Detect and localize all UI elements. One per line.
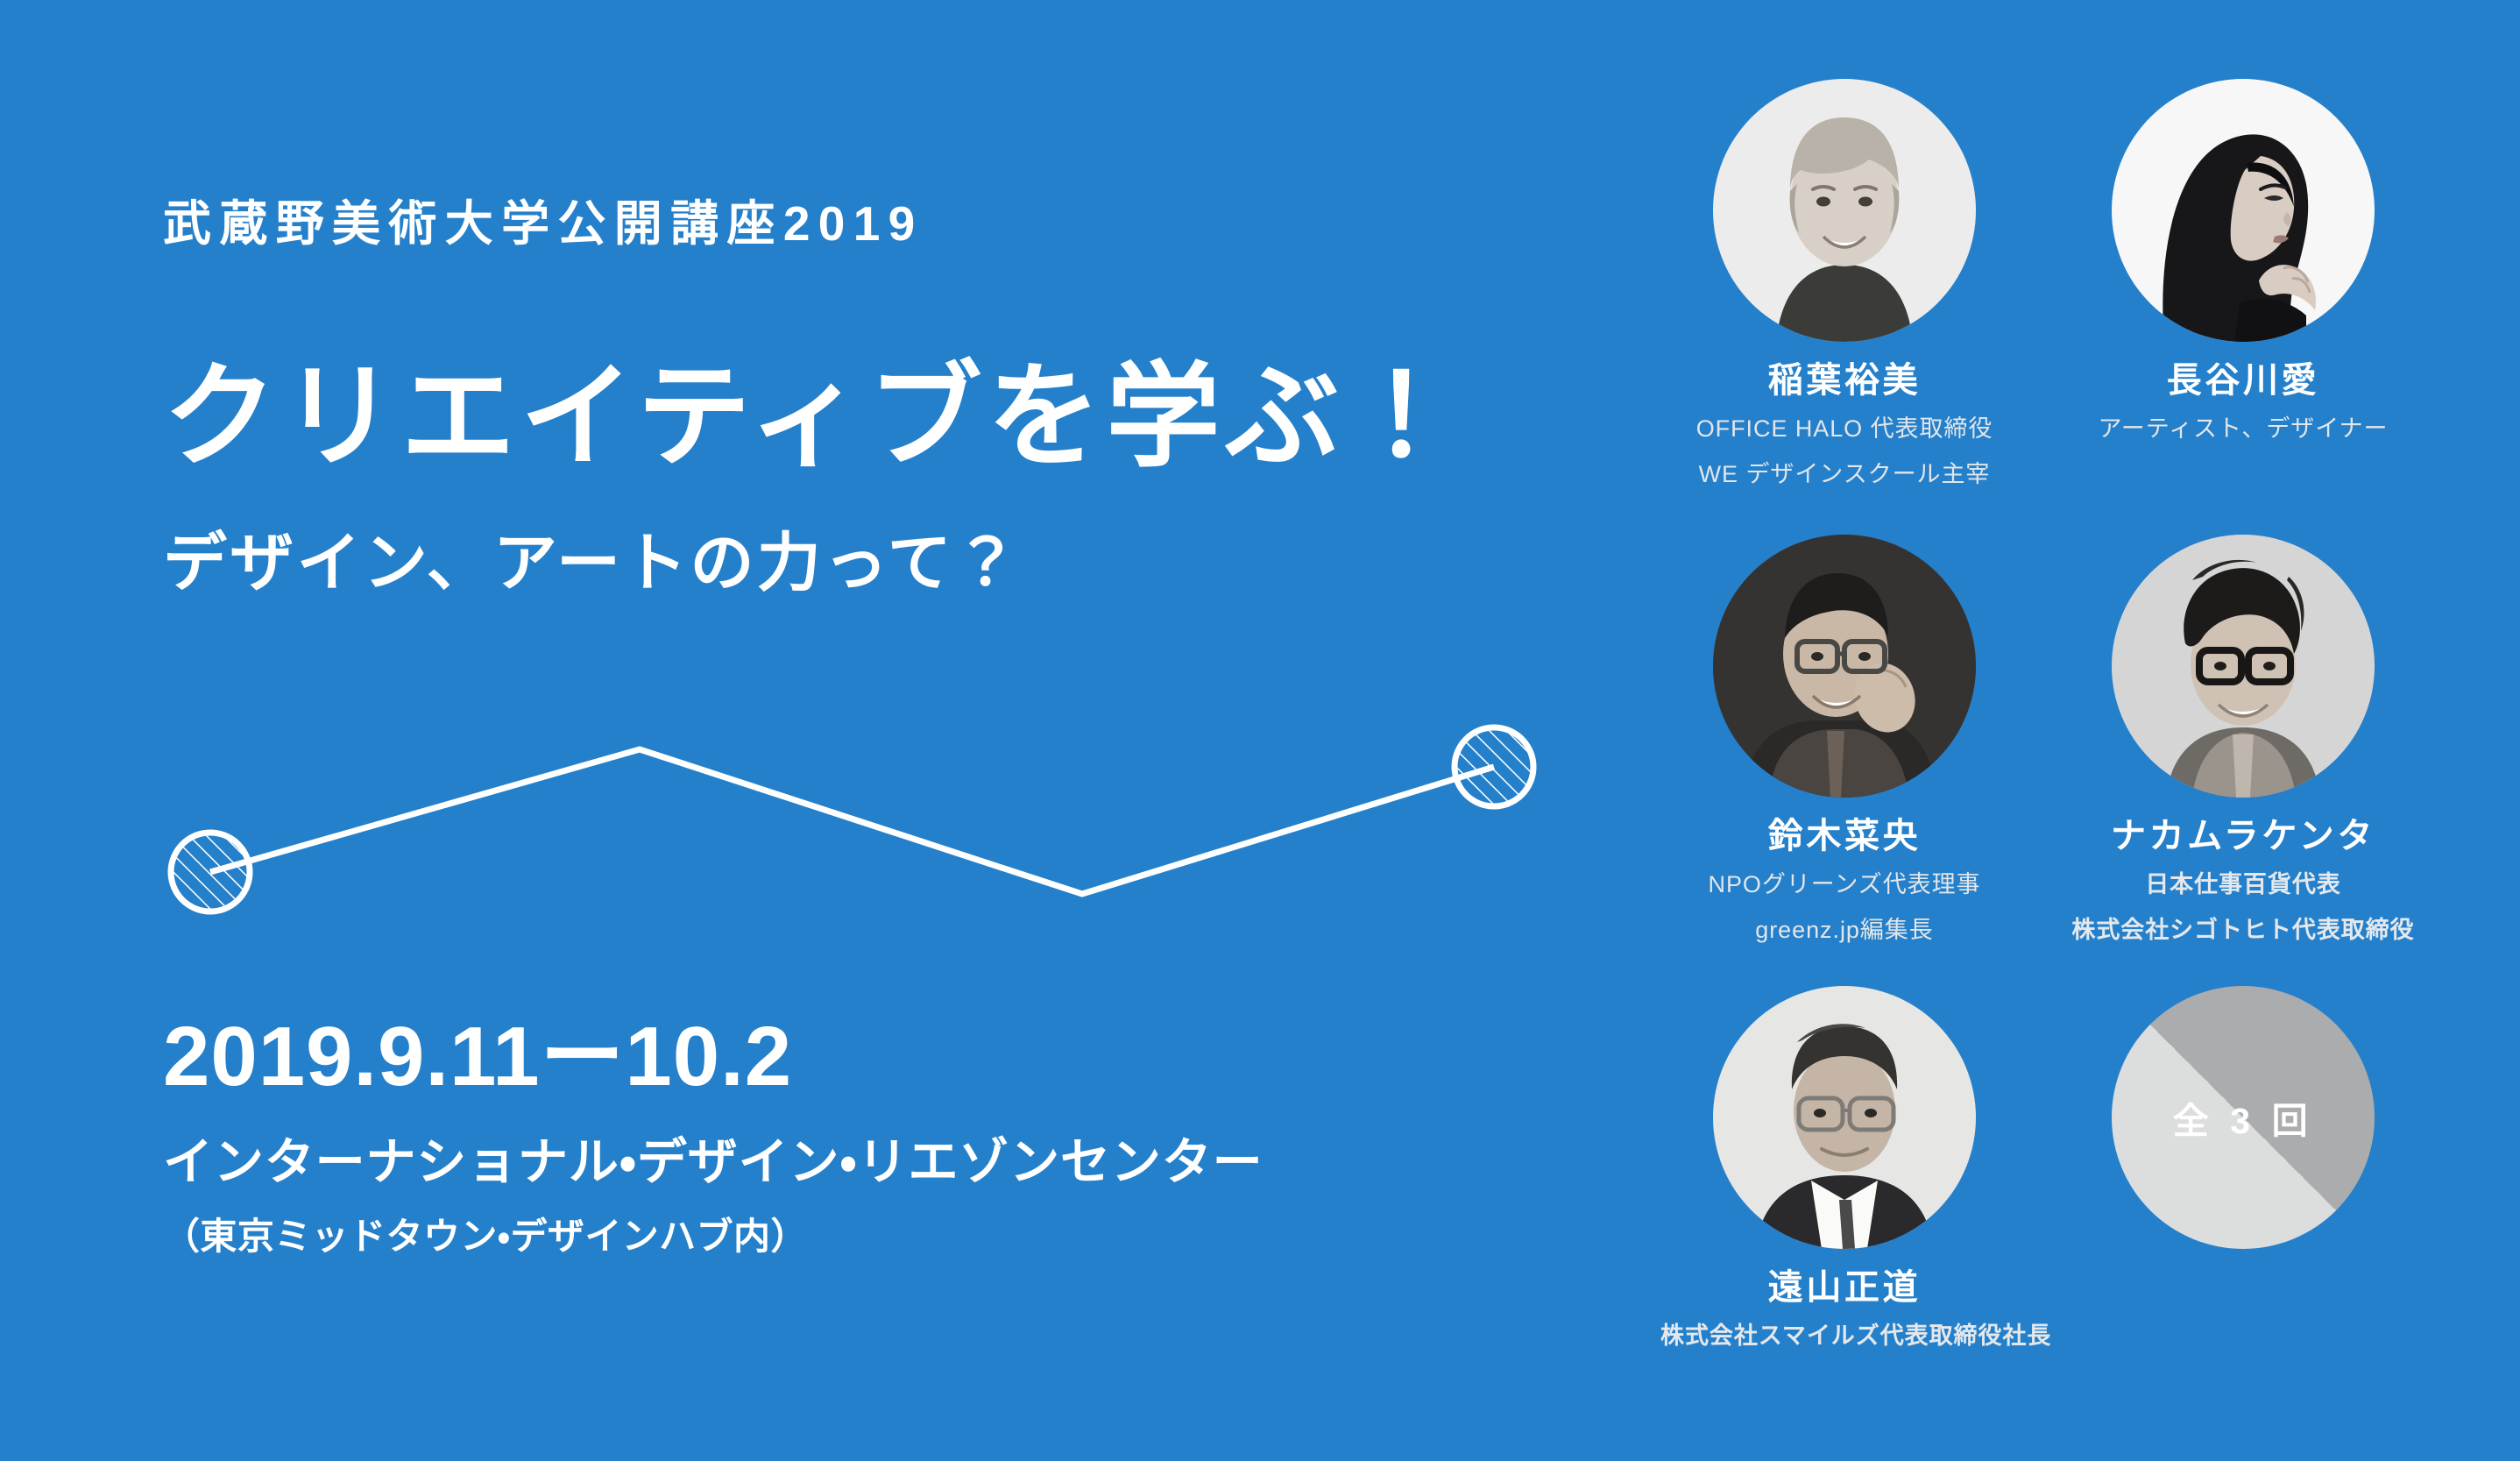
event-venue: インターナショナル・デザイン・リエゾンセンター	[163, 1138, 1263, 1188]
avatar	[2112, 535, 2375, 798]
speaker-name: 長谷川愛	[2059, 361, 2427, 400]
page-title: クリエイティブを学ぶ！	[163, 359, 1463, 473]
poster-left-column: 武蔵野美術大学公開講座2019 クリエイティブを学ぶ！ デザイン、アートの力って…	[163, 0, 1565, 1461]
speaker-title-line: 日本仕事百貨代表	[2059, 868, 2427, 901]
event-date-range: 2019.9.11ー10.2	[163, 1015, 792, 1099]
speaker-title-line: NPOグリーンズ代表理事	[1660, 868, 2028, 901]
speaker-card: 遠山正道 株式会社スマイルズ代表取締役社長	[1660, 986, 2028, 1352]
avatar	[1713, 535, 1976, 798]
speaker-card: 稲葉裕美 OFFICE HALO 代表取締役 WE デザインスクール主宰	[1660, 79, 2028, 492]
speaker-title-line: greenz.jp編集長	[1660, 913, 2028, 947]
poster-eyebrow: 武蔵野美術大学公開講座2019	[163, 200, 924, 248]
avatar	[2112, 79, 2375, 342]
speaker-name: ナカムラケンタ	[2059, 817, 2427, 855]
speaker-grid: 稲葉裕美 OFFICE HALO 代表取締役 WE デザインスクール主宰	[1660, 79, 2502, 1394]
session-count-label: 全 3 回	[2173, 1091, 2313, 1144]
poster-subtitle: デザイン、アートの力って？	[163, 531, 1021, 595]
portrait-nakamura-kenta-icon	[2112, 535, 2375, 798]
event-poster: 武蔵野美術大学公開講座2019 クリエイティブを学ぶ！ デザイン、アートの力って…	[0, 0, 2520, 1461]
session-count-badge: 全 3 回	[2059, 986, 2427, 1249]
session-count-circle: 全 3 回	[2112, 986, 2375, 1249]
speaker-card: ナカムラケンタ 日本仕事百貨代表 株式会社シゴトヒト代表取締役	[2059, 535, 2427, 947]
portrait-suzuki-nao-icon	[1713, 535, 1976, 798]
speaker-card: 鈴木菜央 NPOグリーンズ代表理事 greenz.jp編集長	[1660, 535, 2028, 947]
avatar	[1713, 986, 1976, 1249]
event-venue-note: （東京ミッドタウン・デザインハブ内）	[163, 1218, 808, 1255]
speaker-card: 長谷川愛 アーティスト、デザイナー	[2059, 79, 2427, 445]
speaker-title-line: OFFICE HALO 代表取締役	[1660, 412, 2028, 445]
portrait-toyama-masamichi-icon	[1713, 986, 1976, 1249]
speaker-title-line: 株式会社シゴトヒト代表取締役	[2059, 913, 2427, 947]
speaker-name: 鈴木菜央	[1660, 817, 2028, 855]
avatar	[1713, 79, 1976, 342]
speaker-title-line: 株式会社スマイルズ代表取締役社長	[1660, 1319, 2028, 1352]
speaker-name: 稲葉裕美	[1660, 361, 2028, 400]
speaker-title-line: アーティスト、デザイナー	[2059, 412, 2427, 445]
portrait-inaba-hiromi-icon	[1713, 79, 1976, 342]
speaker-name: 遠山正道	[1660, 1268, 2028, 1307]
portrait-hasegawa-ai-icon	[2112, 79, 2375, 342]
speaker-title-line: WE デザインスクール主宰	[1660, 457, 2028, 491]
